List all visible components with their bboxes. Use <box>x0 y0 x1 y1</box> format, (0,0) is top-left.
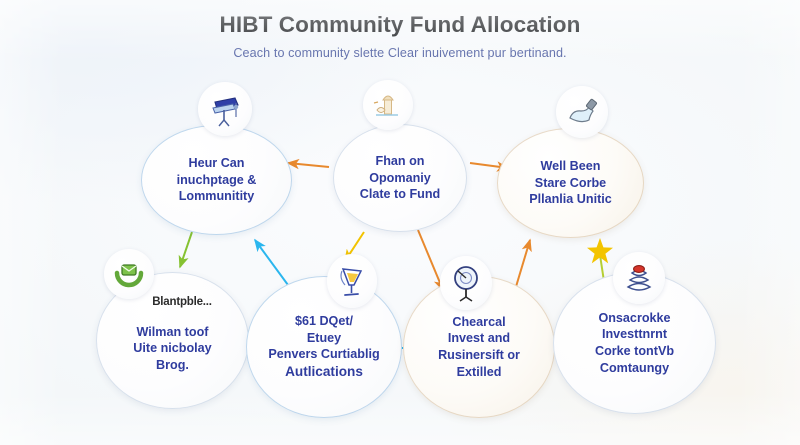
node-line: Well Been <box>529 158 612 175</box>
node-line: Chearcal <box>438 314 520 331</box>
node-line: Etuey <box>268 330 379 347</box>
node-line: Comtaungy <box>595 360 674 377</box>
node-line: Heur Can <box>177 155 257 172</box>
node-blantpble-caption: Blantpble... <box>112 296 252 308</box>
node-investment-label: Onsacrokke Investtnrnt Corke tontVb Comt… <box>586 310 683 376</box>
node-line: Fhan on <box>360 153 440 170</box>
node-fund[interactable]: Fhan on Opomaniy Clate to Fund <box>333 124 467 232</box>
node-fund-label: Fhan on Opomaniy Clate to Fund <box>351 153 449 203</box>
node-community-label: Heur Can inuchptage & Lommunitity <box>168 155 266 205</box>
node-line: inuchptage & <box>177 172 257 189</box>
node-line: Penvers Curtiablig <box>268 346 379 363</box>
diagram-canvas: HIBT Community Fund Allocation Ceach to … <box>0 0 800 445</box>
node-line: Invest and <box>438 330 520 347</box>
node-line: Brog. <box>133 357 211 374</box>
node-line: Opomaniy <box>360 170 440 187</box>
node-line: Autlications <box>268 363 379 381</box>
solar-panel-icon <box>198 82 252 136</box>
node-line: Pllanlia Unitic <box>529 191 612 208</box>
node-line: Uite nicbolay <box>133 340 211 357</box>
node-line: $61 DQet/ <box>268 313 379 330</box>
node-line: Lommunitity <box>177 188 257 205</box>
node-wellbeing[interactable]: Well Been Stare Corbe Pllanlia Unitic <box>497 128 644 238</box>
node-line: Extilled <box>438 364 520 381</box>
node-blantpble-label: Wilman toof Uite nicbolay Brog. <box>124 324 220 374</box>
node-grants[interactable]: $61 DQet/ Etuey Penvers Curtiablig Autli… <box>246 276 402 418</box>
node-line: Stare Corbe <box>529 175 612 192</box>
briefcase-icon <box>104 249 154 299</box>
connector-fund-to-community <box>288 163 329 167</box>
node-grants-label: $61 DQet/ Etuey Penvers Curtiablig Autli… <box>259 313 388 381</box>
node-line: Rusinersift or <box>438 347 520 364</box>
node-line: Corke tontVb <box>595 343 674 360</box>
node-line: Clate to Fund <box>360 186 440 203</box>
node-line: Wilman toof <box>133 324 211 341</box>
layers-icon <box>613 252 665 304</box>
connector-community-to-blantpble <box>180 232 192 267</box>
magnifier-icon <box>440 256 492 310</box>
lighthouse-icon <box>363 80 413 130</box>
node-research-label: Chearcal Invest and Rusinersift or Extil… <box>429 314 529 380</box>
node-line: Onsacrokke <box>595 310 674 327</box>
node-line: Investtnrnt <box>595 326 674 343</box>
brush-icon <box>556 86 608 138</box>
chalice-icon <box>327 254 377 308</box>
node-community[interactable]: Heur Can inuchptage & Lommunitity <box>141 125 292 235</box>
node-wellbeing-label: Well Been Stare Corbe Pllanlia Unitic <box>520 158 621 208</box>
